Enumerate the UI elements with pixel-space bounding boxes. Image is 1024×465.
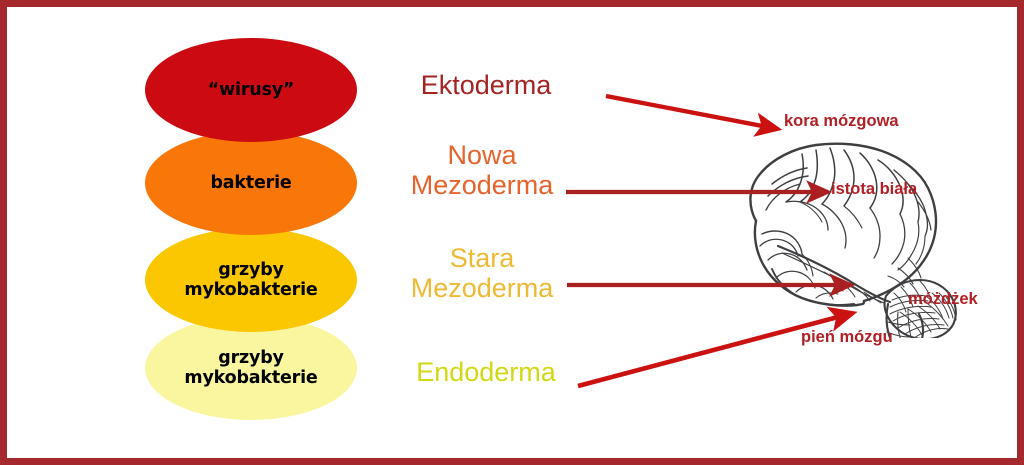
diagram-canvas: grzyby mykobakterie grzyby mykobakterie … xyxy=(0,0,1024,465)
arrow-endoderma-to-pien-mozgu xyxy=(578,313,853,386)
brain-label-istota-biala: istota biała xyxy=(831,180,917,199)
brain-label-mozdzek: móżdżek xyxy=(908,290,978,309)
arrow-ektoderma-to-kora-mozgowa xyxy=(606,96,778,129)
brain-label-pien-mozgu: pień mózgu xyxy=(801,328,893,347)
arrow-layer xyxy=(0,0,1024,465)
brain-label-kora-mozgowa: kora mózgowa xyxy=(784,112,899,131)
